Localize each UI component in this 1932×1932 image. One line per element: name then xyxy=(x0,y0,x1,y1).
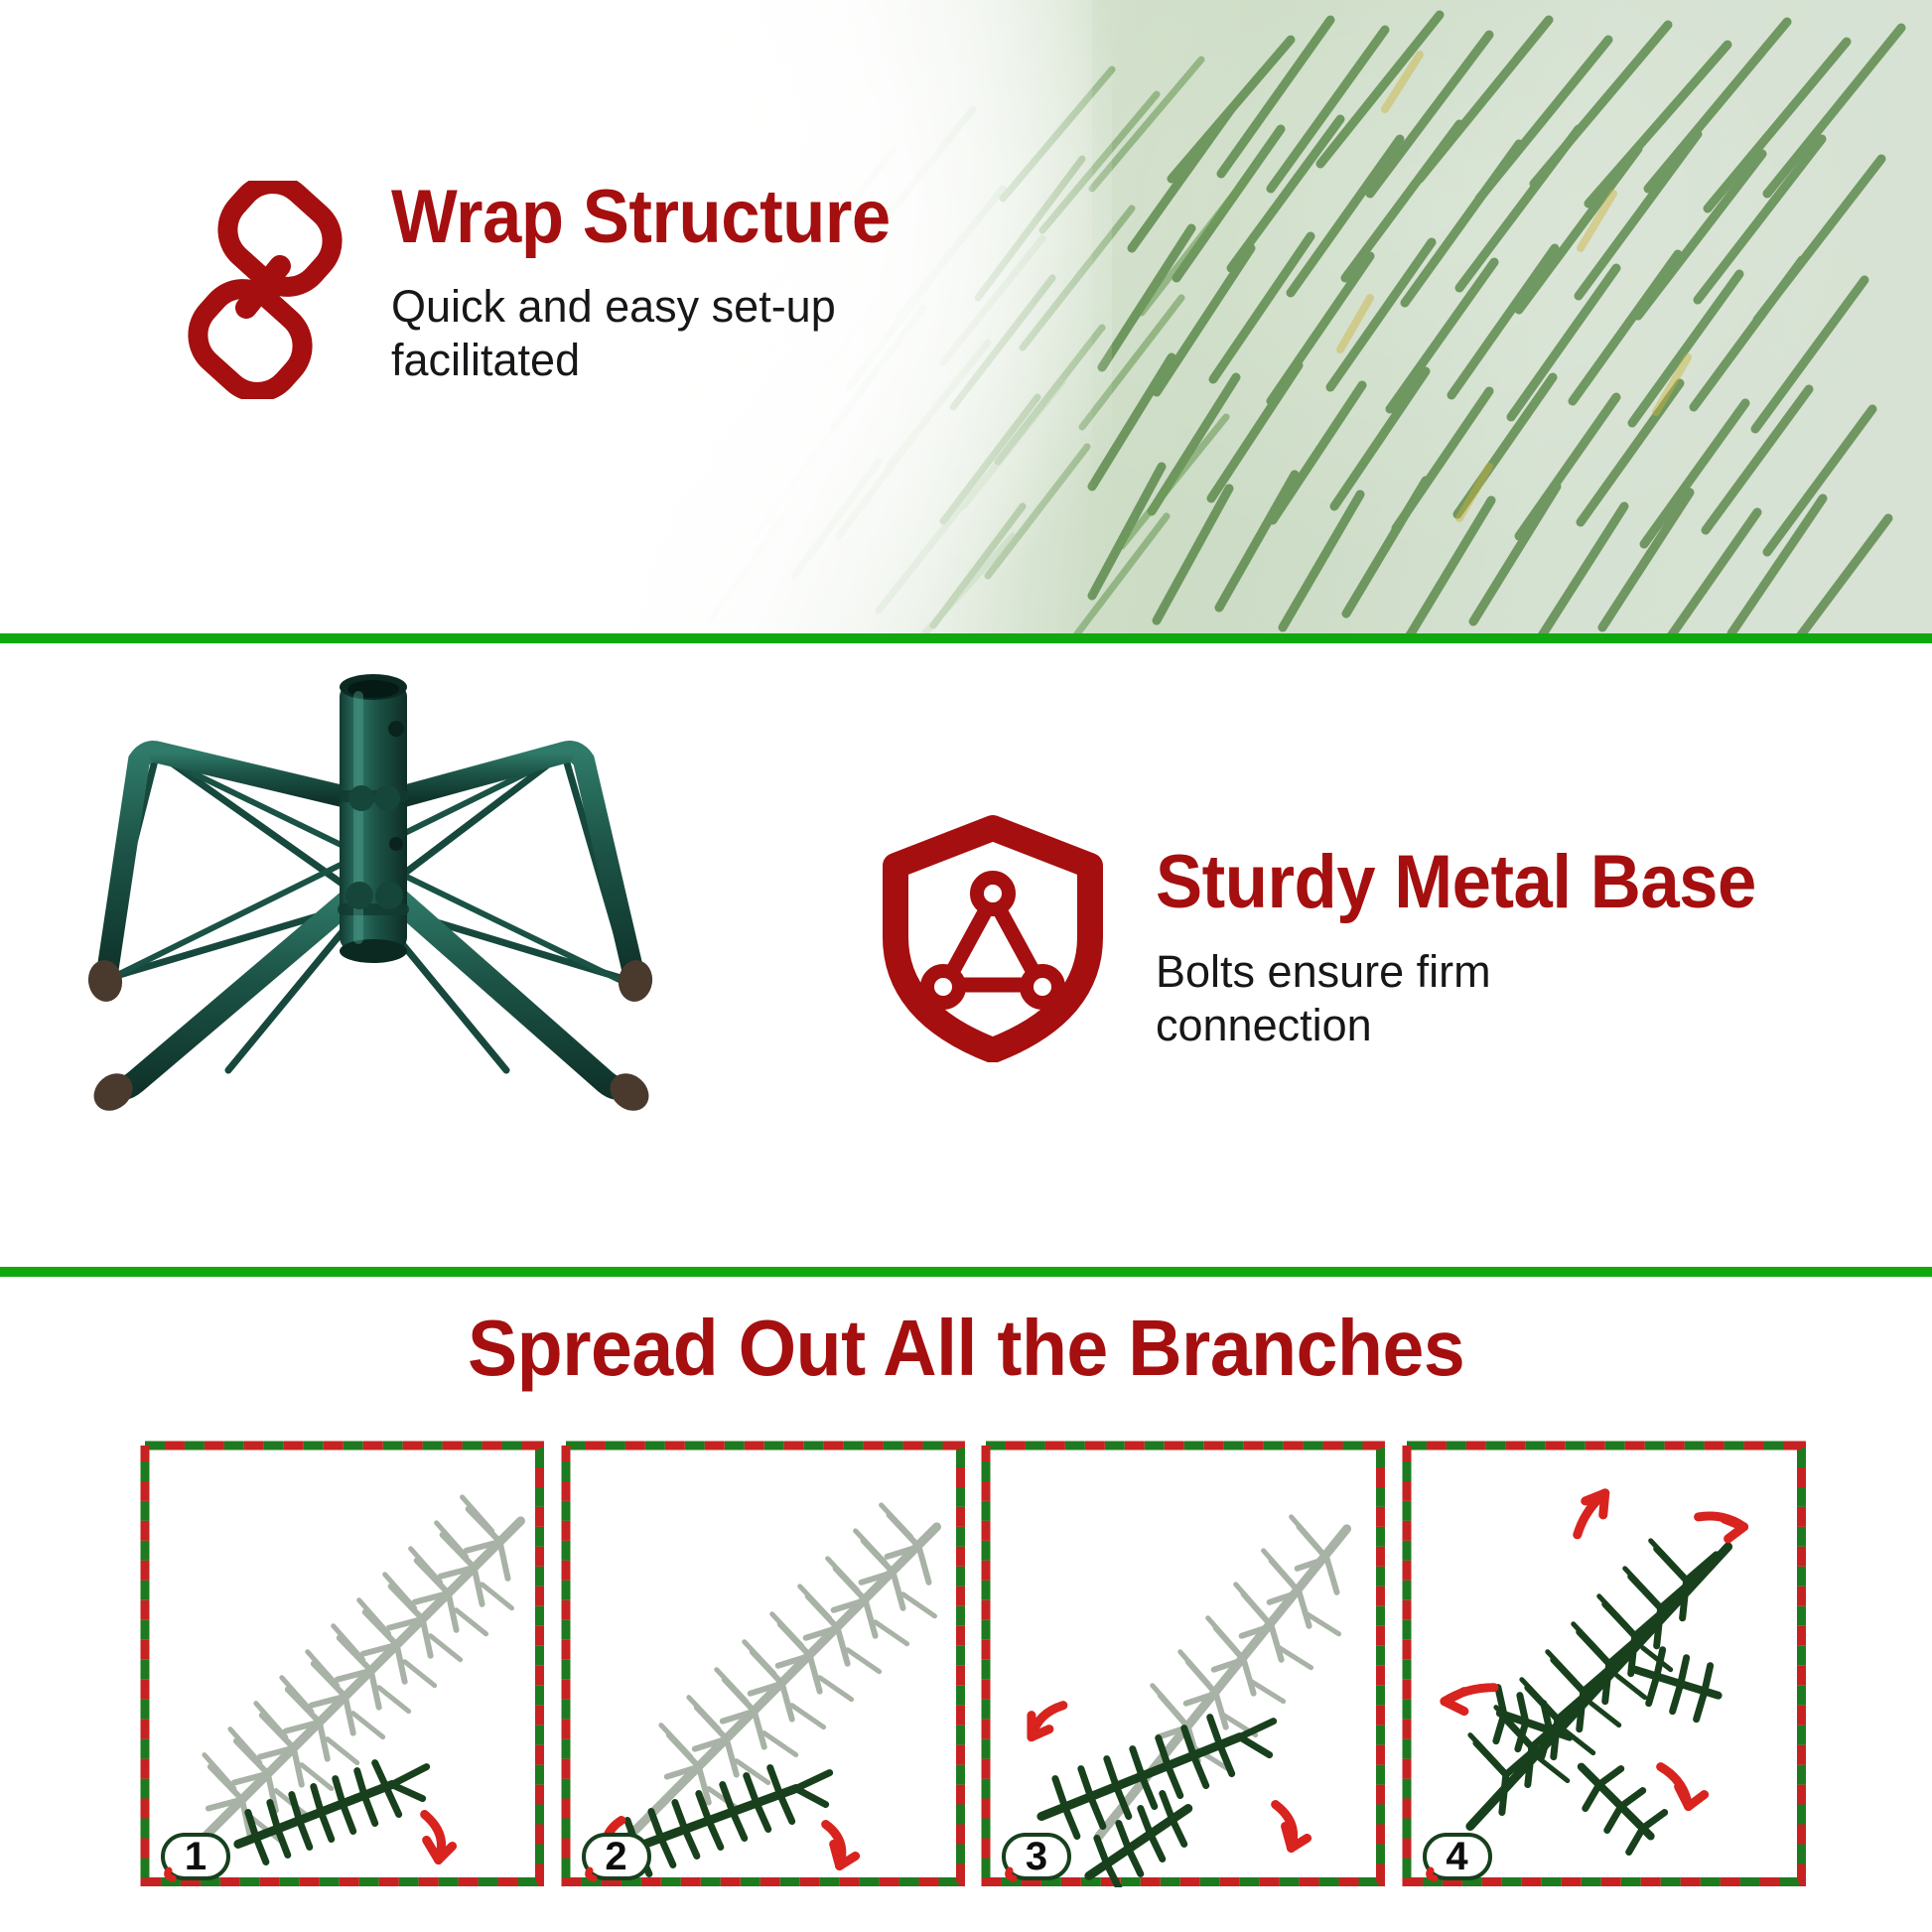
step-number-2: 2 xyxy=(605,1837,626,1876)
step-number-4: 4 xyxy=(1446,1837,1467,1876)
heading-wrap-structure: Wrap Structure xyxy=(391,181,986,254)
subtitle-line-1: Bolts ensure firm xyxy=(1156,945,1712,998)
subtitle-wrap-structure: Quick and easy set-up facilitated xyxy=(391,280,947,385)
section-sturdy-metal-base: Sturdy Metal Base Bolts ensure firm conn… xyxy=(0,643,1932,1267)
heading-sturdy-metal-base: Sturdy Metal Base xyxy=(1156,846,1826,919)
step-number-badge-2: 2 xyxy=(580,1831,653,1882)
feature-text-sturdy-metal-base: Sturdy Metal Base Bolts ensure firm conn… xyxy=(1156,832,1876,1051)
step-number-1: 1 xyxy=(185,1837,207,1876)
subtitle-line-2: facilitated xyxy=(391,334,947,386)
step-panel-2: 2 xyxy=(560,1440,967,1888)
branch-illustration-4 xyxy=(1401,1440,1807,1887)
subtitle-sturdy-metal-base: Bolts ensure firm connection xyxy=(1156,945,1712,1050)
chain-link-icon xyxy=(177,181,353,399)
step-panel-3: 3 xyxy=(980,1440,1387,1888)
step-panel-1: 1 xyxy=(139,1440,546,1888)
step-number-badge-1: 1 xyxy=(159,1831,232,1882)
feature-text-wrap-structure: Wrap Structure Quick and easy set-up fac… xyxy=(391,177,1031,386)
heading-spread-branches-text: Spread Out All the Branches xyxy=(468,1309,1464,1388)
step-panel-4: 4 xyxy=(1401,1440,1808,1888)
infographic-page: Wrap Structure Quick and easy set-up fac… xyxy=(0,0,1932,1932)
feature-block-sturdy-metal-base: Sturdy Metal Base Bolts ensure firm conn… xyxy=(874,832,1876,1062)
metal-tree-stand-image xyxy=(40,653,774,1209)
section-spread-branches: Spread Out All the Branches xyxy=(0,1277,1932,1932)
section-divider-2 xyxy=(0,1267,1932,1277)
section-wrap-structure: Wrap Structure Quick and easy set-up fac… xyxy=(0,0,1932,640)
branch-illustration-2 xyxy=(560,1440,966,1887)
shield-bolts-icon xyxy=(874,814,1112,1062)
step-number-badge-3: 3 xyxy=(1000,1831,1073,1882)
step-number-badge-4: 4 xyxy=(1421,1831,1494,1882)
step-number-3: 3 xyxy=(1026,1837,1047,1876)
feature-block-wrap-structure: Wrap Structure Quick and easy set-up fac… xyxy=(177,177,1031,399)
subtitle-line-2: connection xyxy=(1156,999,1712,1051)
step-panels: 1 xyxy=(139,1440,1807,1888)
branch-illustration-3 xyxy=(980,1440,1386,1887)
subtitle-line-1: Quick and easy set-up xyxy=(391,280,947,333)
section-divider-1 xyxy=(0,633,1932,643)
heading-spread-branches: Spread Out All the Branches xyxy=(0,1309,1932,1388)
branch-illustration-1 xyxy=(139,1440,545,1887)
